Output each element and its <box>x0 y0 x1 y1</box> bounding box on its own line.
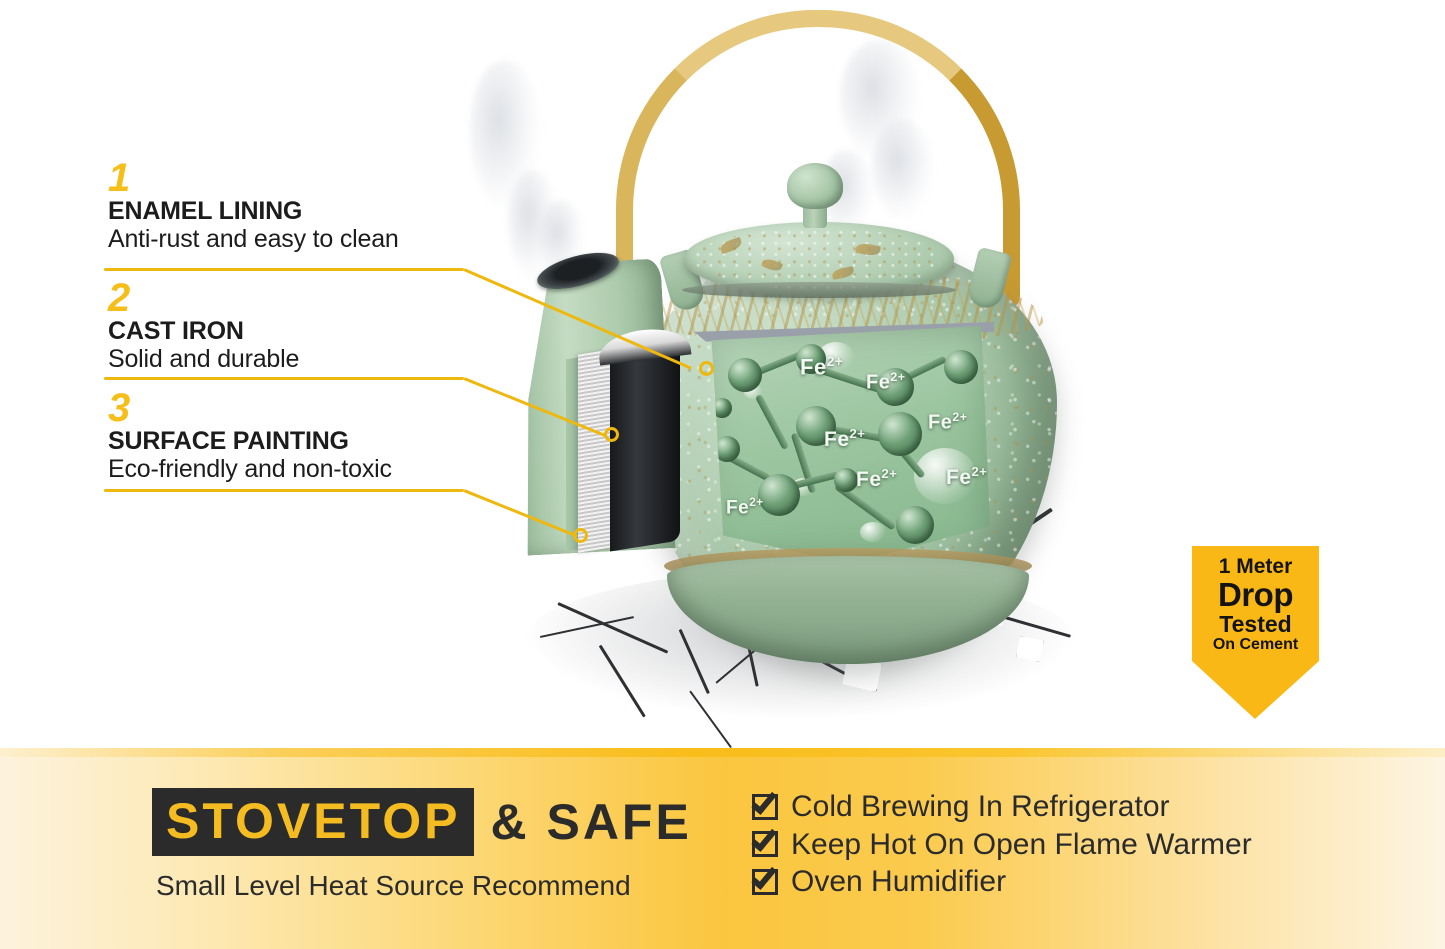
drop-badge-line-3: Tested <box>1198 612 1313 636</box>
fe-ion-label: Fe2+ <box>946 464 987 490</box>
down-arrow-icon <box>1192 661 1319 719</box>
checklist-item-label: Cold Brewing In Refrigerator <box>791 790 1170 824</box>
molecule-atom <box>896 506 934 544</box>
fe-ion-label: Fe2+ <box>824 426 865 452</box>
leader-dot-1 <box>699 361 714 376</box>
cutaway-window: Fe2+ Fe2+ Fe2+ Fe2+ Fe2+ Fe2+ Fe2+ <box>700 326 990 564</box>
fe-ion-label: Fe2+ <box>726 496 764 519</box>
feature-title: SURFACE PAINTING <box>108 428 392 455</box>
product-infographic: Fe2+ Fe2+ Fe2+ Fe2+ Fe2+ Fe2+ Fe2+ <box>0 0 1445 949</box>
stovetop-headline-block: STOVETOP & SAFE Small Level Heat Source … <box>152 788 712 902</box>
leader-dot-3 <box>573 528 588 543</box>
molecule-atom <box>878 412 922 456</box>
checkbox-checked-icon <box>752 869 778 895</box>
feature-description: Anti-rust and easy to clean <box>108 225 399 253</box>
feature-checklist: Cold Brewing In Refrigerator Keep Hot On… <box>752 790 1252 903</box>
molecule-atom <box>834 468 858 492</box>
leader-dot-2 <box>604 427 619 442</box>
product-scene: Fe2+ Fe2+ Fe2+ Fe2+ Fe2+ Fe2+ Fe2+ <box>0 0 1445 748</box>
feature-callout-1: 1 ENAMEL LINING Anti-rust and easy to cl… <box>108 158 399 253</box>
molecule-atom <box>944 350 978 384</box>
stovetop-chip: STOVETOP <box>152 788 474 856</box>
bottom-banner: STOVETOP & SAFE Small Level Heat Source … <box>0 748 1445 949</box>
fe-ion-label: Fe2+ <box>866 370 905 395</box>
feature-title: CAST IRON <box>108 318 299 345</box>
stovetop-headline: STOVETOP & SAFE <box>152 788 712 856</box>
kettle-lid-texture <box>694 228 944 290</box>
fe-ion-label: Fe2+ <box>928 410 967 435</box>
drop-test-badge: 1 Meter Drop Tested On Cement <box>1192 546 1319 719</box>
feature-number: 3 <box>108 388 392 428</box>
feature-callout-2: 2 CAST IRON Solid and durable <box>108 278 299 373</box>
checklist-item: Keep Hot On Open Flame Warmer <box>752 828 1252 862</box>
stovetop-safe-text: & SAFE <box>474 797 691 847</box>
molecule-atom <box>728 358 762 392</box>
checklist-item: Cold Brewing In Refrigerator <box>752 790 1252 824</box>
checkbox-checked-icon <box>752 794 778 820</box>
layer-enamel-lining <box>578 349 612 552</box>
drop-badge-line-2: Drop <box>1198 578 1313 612</box>
checklist-item-label: Oven Humidifier <box>791 865 1006 899</box>
drop-badge-line-4: On Cement <box>1198 636 1313 654</box>
drop-test-badge-body: 1 Meter Drop Tested On Cement <box>1192 546 1319 661</box>
molecule-atom <box>758 474 800 516</box>
kettle-knob <box>787 163 843 209</box>
feature-callout-3: 3 SURFACE PAINTING Eco-friendly and non-… <box>108 388 392 483</box>
kettle-lid-rim <box>682 282 956 298</box>
feature-title: ENAMEL LINING <box>108 198 399 225</box>
layer-cast-iron <box>610 334 680 551</box>
fe-ion-label: Fe2+ <box>856 466 897 492</box>
feature-description: Eco-friendly and non-toxic <box>108 455 392 483</box>
feature-number: 2 <box>108 278 299 318</box>
checklist-item-label: Keep Hot On Open Flame Warmer <box>791 828 1252 862</box>
banner-top-strip <box>0 748 1445 757</box>
stovetop-subtitle: Small Level Heat Source Recommend <box>152 870 712 902</box>
checklist-item: Oven Humidifier <box>752 865 1252 899</box>
water-bubble <box>860 522 886 542</box>
feature-number: 1 <box>108 158 399 198</box>
feature-description: Solid and durable <box>108 345 299 373</box>
fe-ion-label: Fe2+ <box>800 354 843 380</box>
molecule-bond <box>755 394 789 450</box>
checkbox-checked-icon <box>752 831 778 857</box>
drop-badge-line-1: 1 Meter <box>1198 556 1313 578</box>
